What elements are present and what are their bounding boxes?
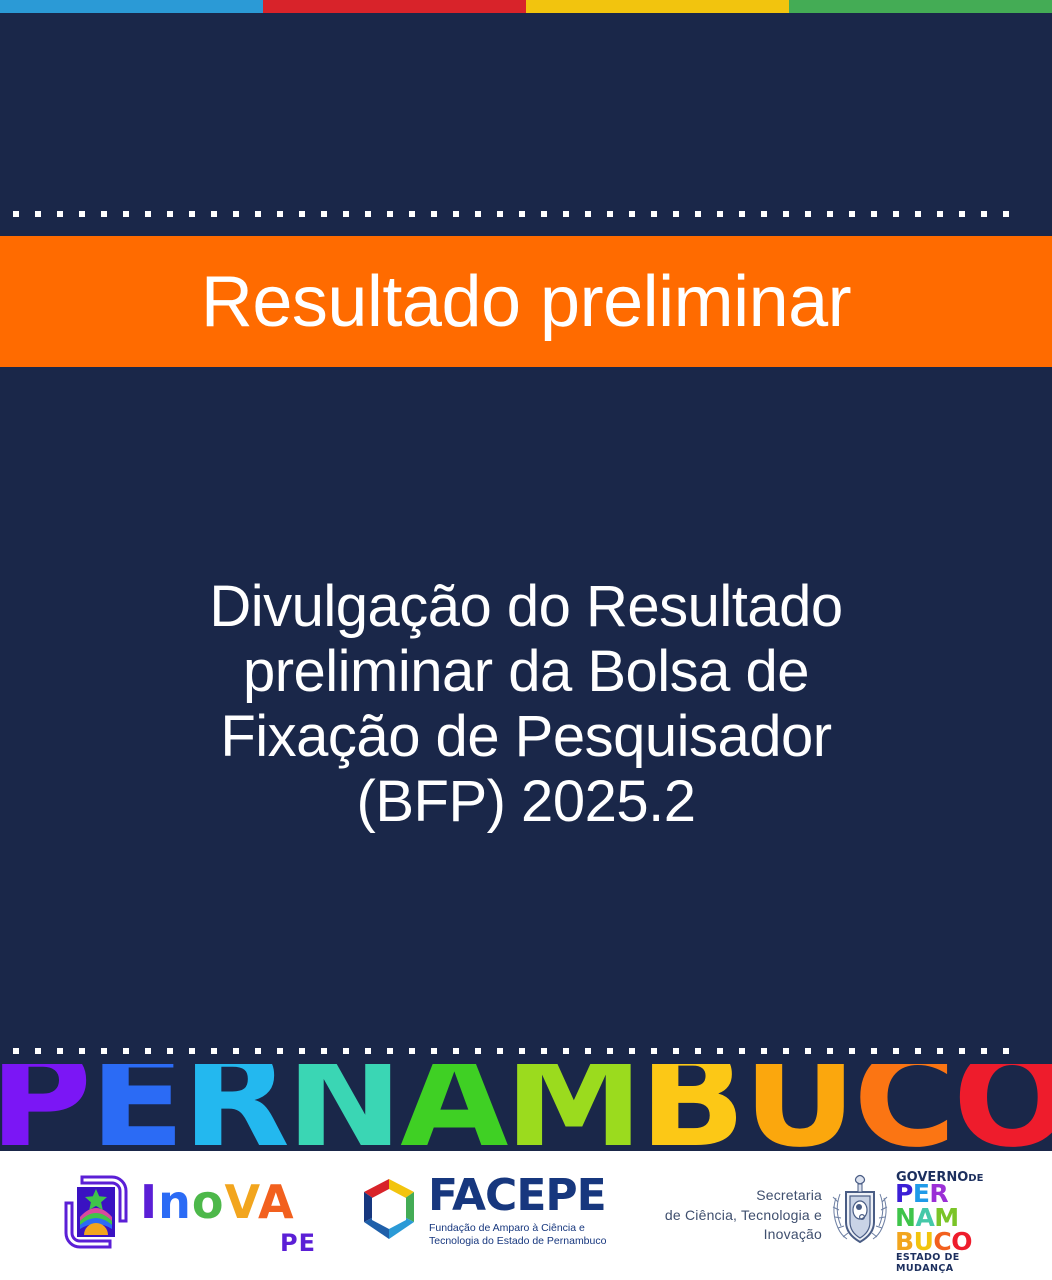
- top-bar-segment-blue: [0, 0, 263, 13]
- brasao-coat-of-arms-icon: [828, 1172, 892, 1252]
- rule-dot: [409, 211, 415, 217]
- inova-letter: V: [224, 1175, 257, 1229]
- rule-dot: [475, 211, 481, 217]
- rule-dot: [893, 211, 899, 217]
- banner: Resultado preliminar: [0, 236, 1052, 367]
- rule-dot: [959, 211, 965, 217]
- rule-dot: [277, 1048, 283, 1054]
- inova-pe-suffix: PE: [280, 1229, 316, 1257]
- rule-dot: [299, 211, 305, 217]
- rule-dot: [123, 1048, 129, 1054]
- rule-dot: [497, 211, 503, 217]
- rule-dot: [1003, 211, 1009, 217]
- wordmark-letter: N: [286, 1064, 395, 1152]
- top-bar-segment-red: [263, 0, 526, 13]
- poster: Resultado preliminar Divulgação do Resul…: [0, 0, 1052, 1280]
- dotted-rule-bottom: [0, 1047, 1052, 1054]
- rule-dot: [629, 1048, 635, 1054]
- secretaria-label: Secretariade Ciência, Tecnologia eInovaç…: [632, 1186, 822, 1246]
- inova-letter: I: [140, 1175, 158, 1229]
- rule-dot: [871, 211, 877, 217]
- secretaria-line: de Ciência, Tecnologia e: [632, 1206, 822, 1226]
- rule-dot: [233, 211, 239, 217]
- rule-dot: [937, 211, 943, 217]
- governo-wordmark: PERNAMBUCO: [895, 1182, 972, 1254]
- rule-dot: [387, 211, 393, 217]
- rule-dot: [651, 211, 657, 217]
- rule-dot: [607, 1048, 613, 1054]
- rule-dot: [211, 1048, 217, 1054]
- footer-logo-bar: InoVA PE FACEPE Fundação de Amparo à Ciê…: [0, 1151, 1052, 1280]
- estado-de-mudanca-label: ESTADO DE MUDANÇA: [896, 1252, 1018, 1274]
- rule-dot: [453, 211, 459, 217]
- top-color-bar: [0, 0, 1052, 13]
- rule-dot: [497, 1048, 503, 1054]
- rule-dot: [35, 1048, 41, 1054]
- secretaria-line: Inovação: [632, 1225, 822, 1245]
- rule-dot: [695, 211, 701, 217]
- rule-dot: [475, 1048, 481, 1054]
- rule-dot: [101, 1048, 107, 1054]
- rule-dot: [717, 211, 723, 217]
- rule-dot: [585, 1048, 591, 1054]
- rule-dot: [79, 211, 85, 217]
- rule-dot: [805, 211, 811, 217]
- rule-dot: [167, 211, 173, 217]
- rule-dot: [343, 211, 349, 217]
- rule-dot: [35, 211, 41, 217]
- top-bar-segment-yellow: [526, 0, 789, 13]
- rule-dot: [255, 1048, 261, 1054]
- rule-dot: [827, 211, 833, 217]
- rule-dot: [563, 1048, 569, 1054]
- rule-dot: [849, 1048, 855, 1054]
- rule-dot: [57, 1048, 63, 1054]
- rule-dot: [893, 1048, 899, 1054]
- rule-dot: [299, 1048, 305, 1054]
- rule-dot: [937, 1048, 943, 1054]
- rule-dot: [387, 1048, 393, 1054]
- facepe-hexagon-icon: [358, 1178, 420, 1240]
- rule-dot: [255, 211, 261, 217]
- rule-dot: [585, 211, 591, 217]
- facepe-tagline-line: Tecnologia do Estado de Pernambuco: [429, 1235, 607, 1248]
- rule-dot: [629, 211, 635, 217]
- rule-dot: [915, 211, 921, 217]
- rule-dot: [453, 1048, 459, 1054]
- rule-dot: [431, 1048, 437, 1054]
- rule-dot: [783, 1048, 789, 1054]
- rule-dot: [739, 211, 745, 217]
- page-title-line: Divulgação do Resultado: [90, 575, 962, 640]
- rule-dot: [541, 211, 547, 217]
- rule-dot: [541, 1048, 547, 1054]
- rule-dot: [343, 1048, 349, 1054]
- rule-dot: [13, 211, 19, 217]
- rule-dot: [123, 211, 129, 217]
- rule-dot: [783, 211, 789, 217]
- rule-dot: [651, 1048, 657, 1054]
- rule-dot: [871, 1048, 877, 1054]
- rule-dot: [849, 211, 855, 217]
- rule-dot: [365, 211, 371, 217]
- wordmark-letter: A: [400, 1064, 500, 1152]
- wordmark-letter: O: [953, 1064, 1052, 1152]
- rule-dot: [365, 1048, 371, 1054]
- rule-dot: [321, 1048, 327, 1054]
- facepe-logo: FACEPE Fundação de Amparo à Ciência eTec…: [358, 1176, 608, 1256]
- rule-dot: [695, 1048, 701, 1054]
- rule-dot: [607, 211, 613, 217]
- banner-title: Resultado preliminar: [201, 266, 851, 338]
- inova-pe-logo: InoVA PE: [52, 1161, 352, 1271]
- facepe-name: FACEPE: [428, 1174, 606, 1218]
- rule-dot: [13, 1048, 19, 1054]
- wordmark-letter: C: [853, 1064, 947, 1152]
- rule-dot: [673, 211, 679, 217]
- wordmark-letter: U: [743, 1064, 848, 1152]
- wordmark-letter: R: [182, 1064, 281, 1152]
- rule-dot: [1003, 1048, 1009, 1054]
- rule-dot: [761, 211, 767, 217]
- inova-letter: A: [258, 1175, 295, 1229]
- governo-wordmark-line: BUCO: [895, 1230, 972, 1254]
- facepe-tagline: Fundação de Amparo à Ciência eTecnologia…: [429, 1222, 607, 1249]
- rule-dot: [915, 1048, 921, 1054]
- rule-dot: [519, 211, 525, 217]
- rule-dot: [145, 1048, 151, 1054]
- wordmark-letter: P: [0, 1064, 83, 1152]
- pernambuco-wordmark: PERNAMBUCO: [0, 1064, 1052, 1152]
- wordmark-letter: B: [639, 1064, 737, 1152]
- rule-dot: [409, 1048, 415, 1054]
- inova-letter: o: [192, 1175, 225, 1229]
- rule-dot: [673, 1048, 679, 1054]
- rule-dot: [277, 211, 283, 217]
- rule-dot: [189, 211, 195, 217]
- governo-pernambuco-logo: GOVERNODE PERNAMBUCO ESTADO DE MUDANÇA: [828, 1168, 1018, 1264]
- secretaria-block: Secretariade Ciência, Tecnologia eInovaç…: [632, 1186, 822, 1246]
- rule-dot: [981, 211, 987, 217]
- rule-dot: [805, 1048, 811, 1054]
- facepe-tagline-line: Fundação de Amparo à Ciência e: [429, 1222, 607, 1235]
- dotted-rule-top: [0, 210, 1052, 217]
- rule-dot: [211, 211, 217, 217]
- rule-dot: [431, 211, 437, 217]
- wordmark-letter: M: [504, 1064, 635, 1152]
- page-title-line: (BFP) 2025.2: [90, 770, 962, 835]
- page-title: Divulgação do Resultadopreliminar da Bol…: [90, 575, 962, 835]
- top-bar-segment-green: [789, 0, 1052, 13]
- rule-dot: [827, 1048, 833, 1054]
- rule-dot: [321, 211, 327, 217]
- rule-dot: [717, 1048, 723, 1054]
- page-title-line: Fixação de Pesquisador: [90, 705, 962, 770]
- rule-dot: [563, 211, 569, 217]
- rule-dot: [145, 211, 151, 217]
- rule-dot: [233, 1048, 239, 1054]
- rule-dot: [189, 1048, 195, 1054]
- inova-wordmark: InoVA: [140, 1179, 295, 1225]
- secretaria-line: Secretaria: [632, 1186, 822, 1206]
- rule-dot: [981, 1048, 987, 1054]
- inova-letter: n: [158, 1175, 192, 1229]
- page-title-line: preliminar da Bolsa de: [90, 640, 962, 705]
- rule-dot: [519, 1048, 525, 1054]
- rule-dot: [739, 1048, 745, 1054]
- rule-dot: [959, 1048, 965, 1054]
- wordmark-letter: E: [89, 1064, 176, 1152]
- rule-dot: [79, 1048, 85, 1054]
- inova-mark-icon: [60, 1173, 132, 1251]
- rule-dot: [101, 211, 107, 217]
- rule-dot: [761, 1048, 767, 1054]
- headline-block: Divulgação do Resultadopreliminar da Bol…: [0, 575, 1052, 835]
- rule-dot: [167, 1048, 173, 1054]
- rule-dot: [57, 211, 63, 217]
